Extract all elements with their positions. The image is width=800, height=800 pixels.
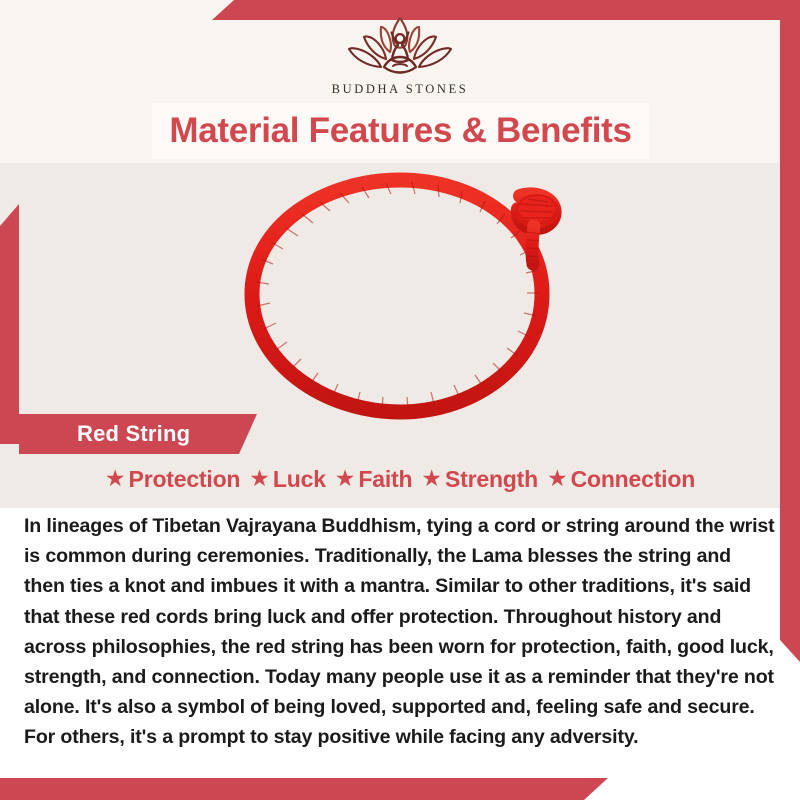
star-icon: ★ (105, 467, 126, 490)
benefit-label: Strength (445, 466, 538, 493)
benefit-label: Protection (129, 466, 241, 493)
benefit-label: Luck (273, 466, 326, 493)
decorative-bar-bottom (0, 778, 608, 800)
benefits-list: ★ Protection ★ Luck ★ Faith ★ Strength ★… (0, 466, 800, 493)
benefit-label: Connection (571, 466, 696, 493)
star-icon: ★ (547, 467, 568, 490)
product-image-red-string-bracelet (190, 166, 610, 428)
brand-logo: BUDDHA STONES (0, 14, 800, 97)
red-cord-bracelet-icon (190, 166, 610, 428)
decorative-bar-left (0, 204, 19, 444)
infographic-card: BUDDHA STONES Material Features & Benefi… (0, 0, 800, 800)
product-label-ribbon: Red String (19, 414, 257, 454)
product-label-text: Red String (77, 421, 190, 447)
brand-name: BUDDHA STONES (332, 82, 469, 97)
page-title: Material Features & Benefits (169, 111, 631, 151)
description-paragraph: In lineages of Tibetan Vajrayana Buddhis… (24, 511, 776, 753)
benefit-item-connection: ★ Connection (547, 466, 695, 493)
star-icon: ★ (249, 467, 270, 490)
lotus-meditation-icon (341, 14, 459, 80)
benefit-label: Faith (358, 466, 412, 493)
benefit-item-protection: ★ Protection (105, 466, 240, 493)
star-icon: ★ (335, 467, 356, 490)
title-banner: Material Features & Benefits (152, 103, 649, 159)
benefit-item-luck: ★ Luck (249, 466, 326, 493)
decorative-bar-right (780, 0, 800, 662)
benefit-item-strength: ★ Strength (421, 466, 538, 493)
star-icon: ★ (421, 467, 442, 490)
benefit-item-faith: ★ Faith (335, 466, 413, 493)
